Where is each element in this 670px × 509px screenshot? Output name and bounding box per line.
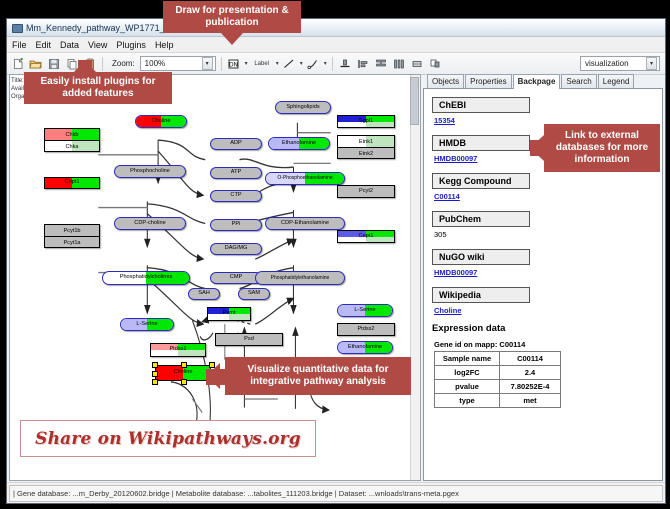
gene-label-chkb: Chkb xyxy=(45,130,99,141)
section-header-pubchem: PubChem xyxy=(432,211,530,227)
chevron-down-icon[interactable]: ▾ xyxy=(202,57,213,70)
app-icon xyxy=(11,22,22,33)
canvas-scroll-thumb[interactable] xyxy=(410,77,419,125)
gene-id-on-mapp: Gene id on mapp: C00114 xyxy=(434,340,662,349)
node-ethanolamine-bottom[interactable]: Ethanolamine xyxy=(337,341,393,354)
gene-label-pcyt1b: Pcyt1b xyxy=(45,226,99,237)
node-adp[interactable]: ADP xyxy=(210,138,262,150)
order-icon[interactable] xyxy=(428,56,443,71)
align-left-icon[interactable] xyxy=(356,56,371,71)
table-row: pvalue 7.80252E-4 xyxy=(435,380,561,394)
section-header-wikipedia: Wikipedia xyxy=(432,287,530,303)
menu-item-file[interactable]: File xyxy=(12,40,27,50)
link-wikipedia[interactable]: Choline xyxy=(434,306,662,315)
selection-handle[interactable] xyxy=(152,362,158,368)
node-l-serine-right[interactable]: L-Serine xyxy=(337,304,393,317)
gene-ptdss1[interactable]: Ptdss1 xyxy=(150,343,206,357)
align-bottom-icon[interactable] xyxy=(338,56,353,71)
title-bar: Mm_Kennedy_pathway_WP1771_45176.gpml xyxy=(7,19,665,37)
zoom-combo[interactable]: 100% ▾ xyxy=(140,56,216,71)
cell-value: met xyxy=(500,394,561,408)
node-cdp-choline[interactable]: CDP-choline xyxy=(114,217,186,230)
gene-label-chka: Chka xyxy=(45,142,99,152)
toolbar-separator xyxy=(332,57,333,71)
callout-link-external-databases: Link to external databases for more info… xyxy=(544,124,660,172)
tab-objects[interactable]: Objects xyxy=(427,74,464,88)
callout-stem xyxy=(206,369,228,385)
section-header-kegg-compound: Kegg Compound xyxy=(432,173,530,189)
node-dag-mg[interactable]: DAG/MG xyxy=(210,243,262,255)
tab-backpage[interactable]: Backpage xyxy=(513,74,561,89)
line-dropdown-arrow[interactable]: ▾ xyxy=(300,60,303,67)
node-cdp-ethanolamine[interactable]: CDP-Ethanolamine xyxy=(265,217,345,230)
section-header-nugo-wiki: NuGO wiki xyxy=(432,249,530,265)
callout-draw-for-publication: Draw for presentation & publication xyxy=(163,1,301,33)
selection-handle[interactable] xyxy=(181,362,187,368)
cell-key: pvalue xyxy=(435,380,500,394)
link-nugo-wiki[interactable]: HMDB00097 xyxy=(434,268,662,277)
callout-easily-install-plugins: Easily install plugins for added feature… xyxy=(24,72,172,104)
canvas-vertical-scrollbar[interactable] xyxy=(410,75,420,480)
node-sphingolipids[interactable]: Sphingolipids xyxy=(275,101,331,114)
toolbar-separator xyxy=(221,57,222,71)
cell-key: log2FC xyxy=(435,366,500,380)
menu-item-edit[interactable]: Edit xyxy=(36,40,52,50)
gene-etnk1-etnk2[interactable]: Etnk1 Etnk2 xyxy=(337,135,395,159)
menu-bar: File Edit Data View Plugins Help xyxy=(7,37,665,53)
datanode-icon[interactable]: DN xyxy=(227,56,242,71)
tab-legend[interactable]: Legend xyxy=(598,74,635,88)
menu-item-data[interactable]: Data xyxy=(60,40,79,50)
datanode-dropdown-arrow[interactable]: ▾ xyxy=(245,60,248,67)
node-atp[interactable]: ATP xyxy=(210,167,262,179)
screenshot-root: Mm_Kennedy_pathway_WP1771_45176.gpml Fil… xyxy=(0,0,670,509)
selection-handle[interactable] xyxy=(181,379,187,385)
node-sam[interactable]: SAM xyxy=(238,288,270,300)
menu-item-plugins[interactable]: Plugins xyxy=(116,40,146,50)
gene-label-etnk2: Etnk2 xyxy=(338,149,394,159)
zoom-label: Zoom: xyxy=(112,59,135,68)
section-header-hmdb: HMDB xyxy=(432,135,530,151)
anchor-line-icon[interactable] xyxy=(306,56,321,71)
cell-key: type xyxy=(435,394,500,408)
status-text: | Gene database: ...m_Derby_20120602.bri… xyxy=(9,485,663,502)
label-dropdown-arrow[interactable]: ▾ xyxy=(276,60,279,67)
status-bar: | Gene database: ...m_Derby_20120602.bri… xyxy=(7,482,665,503)
label-icon[interactable]: Label xyxy=(251,56,273,71)
gene-sgpl1[interactable]: Sgpl1 xyxy=(337,115,395,128)
gene-pcyt1b-pcyt1a[interactable]: Pcyt1b Pcyt1a xyxy=(44,224,100,248)
callout-stem xyxy=(530,140,546,156)
node-phosphatidylethanolamine[interactable]: Phosphatidylethanolamine xyxy=(255,271,345,285)
link-kegg-compound[interactable]: C00114 xyxy=(434,192,662,201)
open-folder-icon[interactable] xyxy=(28,56,43,71)
menu-item-help[interactable]: Help xyxy=(155,40,174,50)
toolbar-separator xyxy=(102,57,103,71)
node-phosphatidylcholines[interactable]: Phosphatidylcholines xyxy=(102,271,190,285)
tab-properties[interactable]: Properties xyxy=(465,74,511,88)
cell-value: 2.4 xyxy=(500,366,561,380)
zoom-value: 100% xyxy=(145,59,165,68)
menu-item-view[interactable]: View xyxy=(88,40,107,50)
callout-stem xyxy=(78,60,92,74)
gene-pemt[interactable]: Pemt xyxy=(207,307,251,321)
node-ppi[interactable]: PPi xyxy=(210,219,262,231)
gene-psd[interactable]: Psd xyxy=(215,333,283,346)
node-ctp[interactable]: CTP xyxy=(210,190,262,202)
table-row: Sample name C00114 xyxy=(435,352,561,366)
distribute-icon[interactable] xyxy=(392,56,407,71)
node-o-phosphoethanolamine[interactable]: O-Phosphoethanolamine xyxy=(265,172,345,185)
tab-search[interactable]: Search xyxy=(561,74,596,88)
stack-icon[interactable] xyxy=(374,56,389,71)
gene-pcyt2[interactable]: Pcyt2 xyxy=(337,185,395,198)
cell-key: Sample name xyxy=(435,352,500,366)
node-ethanolamine-top[interactable]: Ethanolamine xyxy=(268,137,330,150)
table-row: log2FC 2.4 xyxy=(435,366,561,380)
section-header-chebi: ChEBI xyxy=(432,97,530,113)
save-icon[interactable] xyxy=(46,56,61,71)
selection-handle[interactable] xyxy=(152,371,158,377)
visualization-combo[interactable]: visualization ▾ xyxy=(580,56,660,71)
node-sah[interactable]: SAH xyxy=(188,288,220,300)
table-row: type met xyxy=(435,394,561,408)
chevron-down-icon[interactable]: ▾ xyxy=(646,57,657,70)
visualization-value: visualization xyxy=(585,59,629,68)
cell-value: 7.80252E-4 xyxy=(500,380,561,394)
side-panel-tabs: Objects Properties Backpage Search Legen… xyxy=(423,74,663,89)
callout-share-wikipathways: Share on Wikipathways.org xyxy=(20,420,316,457)
anchor-dropdown-arrow[interactable]: ▾ xyxy=(324,60,327,67)
node-choline-top[interactable]: Choline xyxy=(135,115,187,128)
svg-text:DN: DN xyxy=(229,61,238,68)
share-text: Share on Wikipathways.org xyxy=(35,429,301,449)
selection-handle[interactable] xyxy=(152,379,158,385)
line-icon[interactable] xyxy=(282,56,297,71)
gene-chkb-chka[interactable]: Chkb Chka xyxy=(44,128,100,152)
gene-label-etnk1: Etnk1 xyxy=(338,137,394,148)
gene-chpt1[interactable]: Chpt1 xyxy=(44,177,100,189)
gene-label-pcyt1a: Pcyt1a xyxy=(45,238,99,248)
value-pubchem: 305 xyxy=(434,230,662,239)
expression-data-title: Expression data xyxy=(432,323,662,334)
expression-table: Sample name C00114 log2FC 2.4 pvalue 7.8… xyxy=(434,351,561,408)
new-file-icon[interactable] xyxy=(10,56,25,71)
group-icon[interactable] xyxy=(410,56,425,71)
callout-visualize-quantitative-data: Visualize quantitative data for integrat… xyxy=(225,357,411,395)
node-phosphocholine[interactable]: Phosphocholine xyxy=(114,165,186,178)
gene-ptdss2[interactable]: Ptdss2 xyxy=(337,323,395,336)
gene-cept1[interactable]: Cept1 xyxy=(337,230,395,243)
callout-arrow-down-icon xyxy=(221,33,243,45)
node-l-serine-left[interactable]: L-Serine xyxy=(120,318,174,331)
cell-value: C00114 xyxy=(500,352,561,366)
